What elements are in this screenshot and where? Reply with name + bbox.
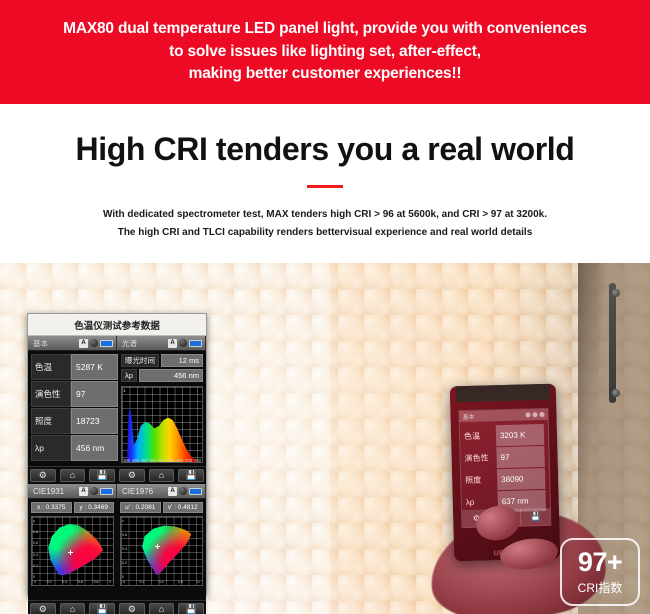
save-icon-button-3[interactable]: 💾 (89, 603, 115, 614)
x-tick: 0.6 (178, 580, 183, 586)
save-icon-4: 💾 (186, 605, 197, 614)
gear-icon-button-2[interactable]: ⚙ (119, 469, 145, 482)
cie1931-x-key: x : (37, 504, 44, 511)
gear-icon-button-3[interactable]: ⚙ (30, 603, 56, 614)
banner-line-1: MAX80 dual temperature LED panel light, … (25, 18, 625, 40)
save-icon-meter: 💾 (531, 512, 541, 521)
table-row: 色温 3203 K (464, 424, 545, 447)
banner-line-2: to solve issues like lighting set, after… (25, 41, 625, 63)
table-row: λp 456 nm (31, 435, 118, 461)
basic-measurement-table: 色温 5287 K 演色性 97 照度 18723 λp 456 nm (28, 351, 120, 466)
x-tick: 0.8 (94, 580, 99, 586)
subcopy-line-1: With dedicated spectrometer test, MAX te… (25, 206, 625, 224)
auto-icon-meter (525, 412, 530, 417)
y-tick: 0 (122, 575, 124, 579)
home-icon-button-2[interactable]: ⌂ (149, 469, 175, 482)
save-icon: 💾 (97, 471, 108, 480)
row-value: 38090 (497, 468, 546, 490)
cie1976-u-value: 0.2081 (135, 504, 155, 511)
save-icon-button[interactable]: 💾 (89, 469, 115, 482)
promo-banner-text: MAX80 dual temperature LED panel light, … (25, 18, 625, 85)
table-row: 照度 18723 (31, 408, 118, 434)
sensor-icon-3 (90, 487, 98, 495)
tab-cie1976-label: CIE1976 (122, 487, 153, 496)
x-tick: 0.4 (159, 580, 164, 586)
row-value: 97 (71, 381, 118, 407)
gear-icon-button-4[interactable]: ⚙ (119, 603, 145, 614)
auto-icon-2: A (168, 339, 177, 348)
sensor-icon-meter (532, 412, 537, 417)
battery-icon-3 (100, 488, 113, 495)
cie1931-y-value: 0.3469 (88, 504, 108, 511)
tab-spectrum-label: 光谱 (122, 338, 137, 349)
save-icon-button-2[interactable]: 💾 (178, 469, 204, 482)
row-key: 色温 (31, 354, 71, 380)
home-icon-button-3[interactable]: ⌂ (60, 603, 86, 614)
promo-banner: MAX80 dual temperature LED panel light, … (0, 0, 650, 104)
table-row: λp 456 nm (121, 369, 203, 382)
row-key: 照度 (31, 408, 71, 434)
tab-spectrum-icons: A (168, 339, 202, 348)
table-row: 色温 5287 K (31, 354, 118, 380)
cri-badge-caption: CRI指数 (578, 579, 623, 596)
cie1931-x-axis: 0 0.2 0.4 0.6 0.8 x (34, 580, 111, 586)
battery-icon-meter (539, 412, 544, 417)
x-tick: 750 (194, 458, 201, 463)
row-key: 照度 (465, 469, 498, 491)
gear-icon-4: ⚙ (128, 605, 136, 614)
cie1976-panel: u' : 0.2081 v' : 0.4812 v' (117, 499, 206, 600)
spectrometer-toolbar-top: ⚙ ⌂ 💾 ⚙ ⌂ 💾 (28, 466, 206, 484)
cie1976-u-key: u' : (125, 504, 133, 511)
auto-icon-4: A (168, 487, 177, 496)
page-title: High CRI tenders you a real world (76, 131, 575, 168)
row-value: 12 ms (161, 354, 203, 367)
tab-cie1976-icons: A (168, 487, 202, 496)
save-icon-3: 💾 (97, 605, 108, 614)
y-tick: v' (122, 519, 124, 523)
cie1931-chromaticity-diagram: y 0.8 0.6 0.4 0.2 0 0 0.2 0.4 0.6 (31, 516, 114, 586)
x-tick: 600 (167, 458, 174, 463)
tab-cie1931-icons: A (79, 487, 113, 496)
auto-icon-3: A (79, 487, 88, 496)
gear-icon-3: ⚙ (39, 605, 47, 614)
save-icon-2: 💾 (186, 471, 197, 480)
gear-icon-2: ⚙ (128, 471, 136, 480)
cri-badge-number: 97+ (578, 549, 622, 576)
cie1976-u: u' : 0.2081 (120, 502, 161, 513)
product-photo: 色温仪测试参考数据 基本 A 光谱 A (0, 263, 650, 614)
cie-tabbar: CIE1931 A CIE1976 A (28, 484, 206, 499)
gear-icon: ⚙ (39, 471, 47, 480)
row-key: 色温 (464, 425, 497, 447)
meter-tab-label: 基本 (462, 412, 474, 421)
row-key: 演色性 (31, 381, 71, 407)
sensor-icon-4 (179, 487, 187, 495)
cie1931-measurement-marker (68, 550, 73, 555)
x-tick: u' (197, 580, 200, 586)
x-tick: 700 (185, 458, 192, 463)
cie1931-panel: x : 0.3375 y : 0.3469 y (28, 499, 117, 600)
battery-icon-2 (189, 340, 202, 347)
row-key: λp (121, 369, 137, 382)
x-tick: 0.4 (62, 580, 67, 586)
banner-line-3: making better customer experiences!! (25, 63, 625, 85)
y-tick: 0.4 (122, 547, 127, 551)
x-tick: x (109, 580, 111, 586)
sensor-icon (90, 339, 98, 347)
y-tick: y (33, 519, 35, 523)
battery-icon-4 (189, 488, 202, 495)
home-icon-button-4[interactable]: ⌂ (149, 603, 175, 614)
table-row: 演色性 97 (31, 381, 118, 407)
y-tick: 0.4 (33, 553, 38, 557)
spectrometer-title: 色温仪测试参考数据 (28, 314, 206, 336)
row-key: λp (31, 435, 71, 461)
cie1976-v: v' : 0.4812 (163, 502, 204, 513)
home-icon: ⌂ (70, 471, 75, 480)
battery-icon (100, 340, 113, 347)
x-tick: 360 (123, 458, 130, 463)
meter-measurement-table: 色温 3203 K 演色性 97 照度 38090 λp 637 nm (460, 420, 550, 513)
y-tick: 0.2 (33, 564, 38, 568)
cie1976-x-axis: 0 0.2 0.4 0.6 u' (123, 580, 200, 586)
y-tick: 0.8 (33, 530, 38, 534)
row-value: 5287 K (71, 354, 118, 380)
chart-x-axis: 360 400 450 500 550 600 650 700 750 (122, 456, 202, 463)
x-tick: 650 (176, 458, 183, 463)
row-value: 3203 K (496, 424, 545, 446)
cri-badge: 97+ CRI指数 (560, 538, 640, 606)
cie1931-x: x : 0.3375 (31, 502, 72, 513)
home-icon-2: ⌂ (159, 471, 164, 480)
meter-top-housing (455, 384, 550, 403)
spectrometer-panels: 色温 5287 K 演色性 97 照度 18723 λp 456 nm (28, 351, 206, 466)
home-icon-button[interactable]: ⌂ (60, 469, 86, 482)
row-value: 18723 (71, 408, 118, 434)
tab-cie1931-label: CIE1931 (33, 487, 64, 496)
spectrometer-tabbar: 基本 A 光谱 A (28, 336, 206, 351)
y-tick: 0 (33, 575, 35, 579)
tab-cie1931[interactable]: CIE1931 A (28, 484, 117, 498)
cie1976-v-key: v' : (168, 504, 176, 511)
home-icon-3: ⌂ (70, 605, 75, 614)
frame-rail (609, 283, 616, 403)
tab-basic[interactable]: 基本 A (28, 336, 117, 350)
cie1931-values: x : 0.3375 y : 0.3469 (31, 502, 114, 513)
row-value: 97 (496, 446, 545, 468)
x-tick: 500 (150, 458, 157, 463)
row-value: 456 nm (139, 369, 203, 382)
headline-section: High CRI tenders you a real world With d… (0, 104, 650, 263)
cie1976-chromaticity-diagram: v' 0.6 0.4 0.2 0 0 0.2 0.4 0.6 u' (120, 516, 203, 586)
x-tick: 450 (141, 458, 148, 463)
cie1976-measurement-marker (155, 544, 160, 549)
sensor-icon-2 (179, 339, 187, 347)
x-tick: 0 (34, 580, 36, 586)
cie1976-y-axis: v' 0.6 0.4 0.2 0 (122, 519, 130, 579)
x-tick: 0 (123, 580, 125, 586)
x-tick: 0.6 (78, 580, 83, 586)
cie1976-values: u' : 0.2081 v' : 0.4812 (120, 502, 203, 513)
meter-save-button[interactable]: 💾 (520, 508, 550, 526)
cie1931-y-key: y : (79, 504, 86, 511)
cie1931-y: y : 0.3469 (74, 502, 115, 513)
subcopy-line-2: The high CRI and TLCI capability renders… (25, 224, 625, 242)
spectrometer-toolbar-bottom: ⚙ ⌂ 💾 ⚙ ⌂ 💾 (28, 600, 206, 614)
page-root: MAX80 dual temperature LED panel light, … (0, 0, 650, 614)
tab-spectrum[interactable]: 光谱 A (117, 336, 206, 350)
cie1931-y-axis: y 0.8 0.6 0.4 0.2 0 (33, 519, 41, 579)
frame-screw-top (612, 289, 620, 297)
table-row: 演色性 97 (464, 446, 545, 469)
tab-basic-label: 基本 (33, 338, 48, 349)
row-value: 456 nm (71, 435, 118, 461)
y-tick: 0.2 (122, 561, 127, 565)
spectrometer-screenshot: 色温仪测试参考数据 基本 A 光谱 A (27, 313, 207, 595)
x-tick: 550 (158, 458, 165, 463)
cie1976-v-value: 0.4812 (178, 504, 198, 511)
home-icon-4: ⌂ (159, 605, 164, 614)
row-key: 曝光时间 (121, 354, 159, 367)
title-divider (307, 185, 343, 188)
gear-icon-button[interactable]: ⚙ (30, 469, 56, 482)
meter-status-icons (525, 412, 544, 417)
tab-basic-icons: A (79, 339, 113, 348)
spectrum-panel: 曝光时间 12 ms λp 456 nm 1 360 400 (120, 351, 206, 466)
table-row: 曝光时间 12 ms (121, 354, 203, 367)
y-tick: 0.6 (122, 533, 127, 537)
spectral-power-distribution-chart: 1 360 400 450 500 550 600 650 700 7 (121, 386, 203, 463)
frame-screw-bottom (612, 389, 620, 397)
row-key: 演色性 (464, 447, 497, 469)
table-row: 照度 38090 (465, 468, 546, 491)
tab-cie1976[interactable]: CIE1976 A (117, 484, 206, 498)
save-icon-button-4[interactable]: 💾 (178, 603, 204, 614)
x-tick: 0.2 (47, 580, 52, 586)
x-tick: 400 (132, 458, 139, 463)
cie-panels: x : 0.3375 y : 0.3469 y (28, 499, 206, 600)
subcopy-text: With dedicated spectrometer test, MAX te… (25, 206, 625, 241)
cie1931-x-value: 0.3375 (46, 504, 66, 511)
y-tick: 0.6 (33, 541, 38, 545)
auto-icon: A (79, 339, 88, 348)
x-tick: 0.2 (139, 580, 144, 586)
